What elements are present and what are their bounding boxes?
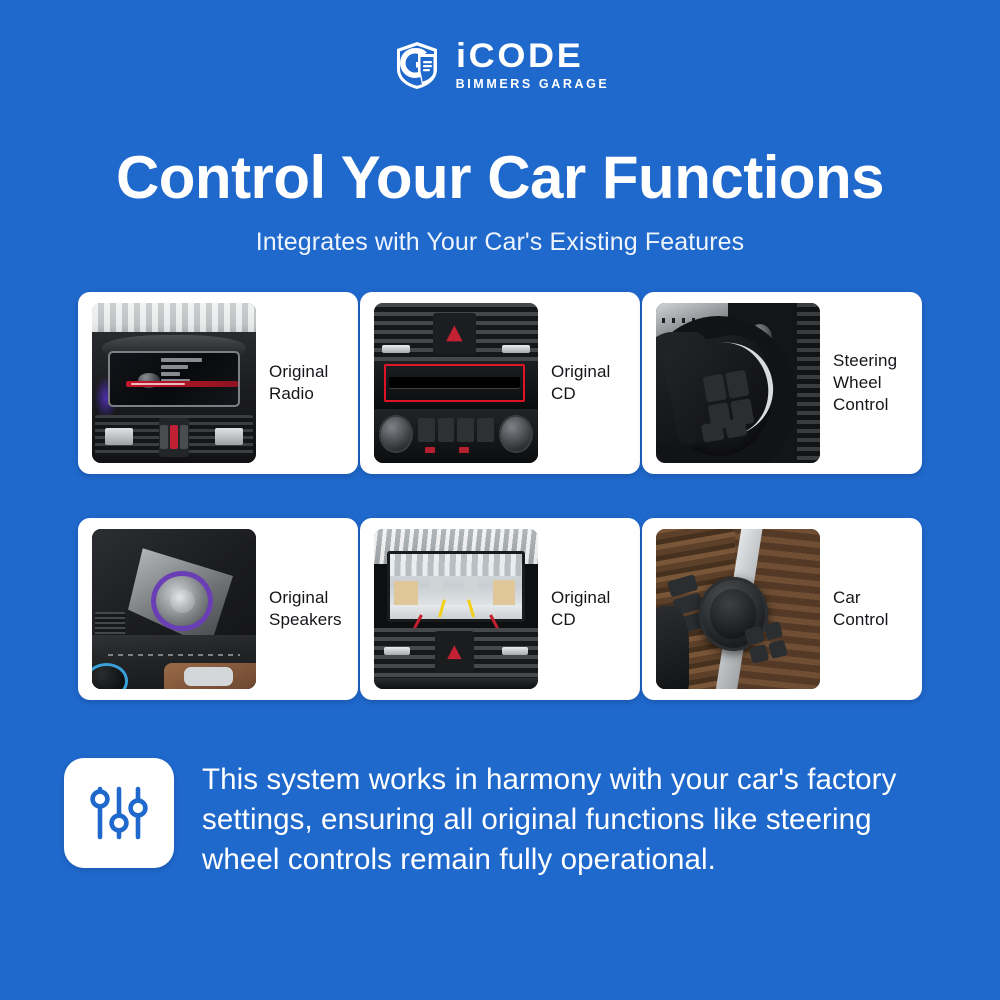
- icode-g-shield-logo-icon: [391, 39, 443, 91]
- brand-header: iCODE BIMMERS GARAGE: [0, 30, 1000, 100]
- logo[interactable]: iCODE BIMMERS GARAGE: [391, 39, 610, 91]
- feature-card-original-speakers[interactable]: Original Speakers: [78, 518, 358, 700]
- feature-card-grid: Original Radio Original CD: [78, 292, 922, 700]
- feature-card-original-cd-camera[interactable]: Original CD: [360, 518, 640, 700]
- summary-note: This system works in harmony with your c…: [64, 758, 944, 880]
- feature-card-car-control[interactable]: Car Control: [642, 518, 922, 700]
- idrive-rotary-controller-photo: [656, 529, 820, 689]
- feature-label: Original Radio: [256, 361, 350, 405]
- summary-note-text: This system works in harmony with your c…: [202, 758, 944, 880]
- feature-card-original-radio[interactable]: Original Radio: [78, 292, 358, 474]
- car-cd-slot-climate-panel-photo: [374, 303, 538, 463]
- sliders-equalizer-icon: [64, 758, 174, 868]
- car-head-unit-display-photo: [92, 303, 256, 463]
- feature-label: Car Control: [820, 587, 914, 631]
- feature-label: Original CD: [538, 361, 632, 405]
- page-subtitle: Integrates with Your Car's Existing Feat…: [0, 228, 1000, 257]
- feature-label: Steering Wheel Control: [820, 350, 914, 415]
- feature-card-steering-wheel-control[interactable]: Steering Wheel Control: [642, 292, 922, 474]
- brand-tagline: BIMMERS GARAGE: [456, 78, 610, 91]
- steering-wheel-buttons-photo: [656, 303, 820, 463]
- cd-slot-highlight: [384, 364, 525, 402]
- a-pillar-tweeter-speaker-photo: [92, 529, 256, 689]
- page-title: Control Your Car Functions: [0, 146, 1000, 209]
- feature-label: Original Speakers: [256, 587, 350, 631]
- brand-name: iCODE: [456, 40, 619, 72]
- feature-card-original-cd[interactable]: Original CD: [360, 292, 640, 474]
- feature-label: Original CD: [538, 587, 632, 631]
- reverse-camera-screen-photo: [374, 529, 538, 689]
